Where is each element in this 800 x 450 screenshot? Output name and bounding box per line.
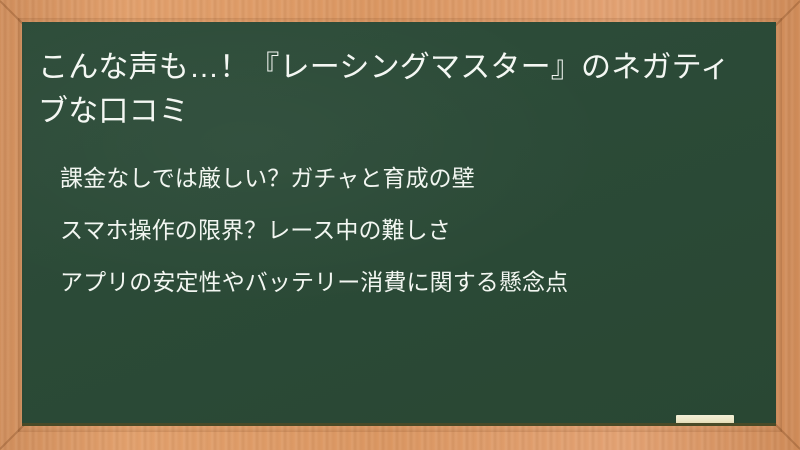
page-title: こんな声も…！『レーシングマスター』のネガティブな口コミ [38,46,752,134]
blackboard-frame: こんな声も…！『レーシングマスター』のネガティブな口コミ 課金なしでは厳しい？ガ… [0,0,800,450]
chalk-eraser-icon [676,415,734,425]
list-item: アプリの安定性やバッテリー消費に関する懸念点 [60,256,760,308]
topic-list: 課金なしでは厳しい？ガチャと育成の壁 スマホ操作の限界？レース中の難しさ アプリ… [60,152,760,308]
list-item: スマホ操作の限界？レース中の難しさ [60,204,760,256]
list-item: 課金なしでは厳しい？ガチャと育成の壁 [60,152,760,204]
chalkboard-surface: こんな声も…！『レーシングマスター』のネガティブな口コミ 課金なしでは厳しい？ガ… [22,22,776,426]
